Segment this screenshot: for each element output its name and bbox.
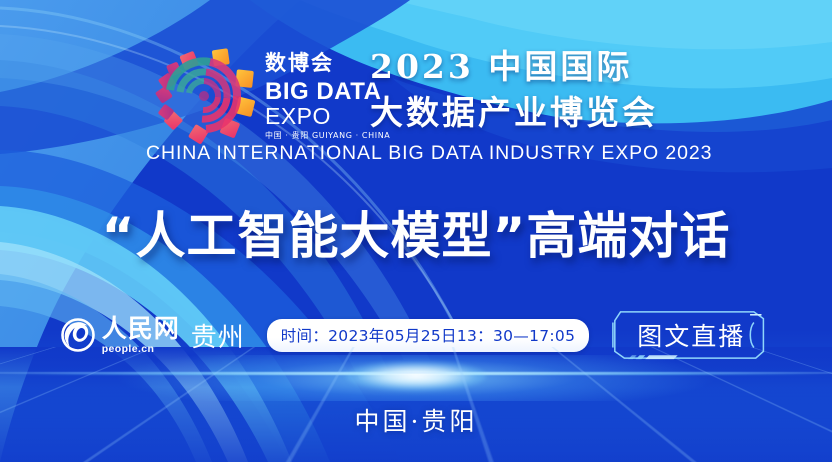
- bigdata-expo-spiral-logo: [152, 42, 256, 146]
- city-label: 中国·贵阳: [0, 402, 832, 438]
- live-badge-label: 图文直播: [637, 322, 745, 351]
- expo-logo: 数博会 BIG DATA EXPO 中国 · 贵阳 GUIYANG · CHIN…: [152, 42, 390, 146]
- people-cn-logo[interactable]: 人民网 people.cn 贵州: [61, 316, 245, 355]
- people-cn-domain: people.cn: [102, 344, 180, 355]
- time-badge: 时间：2023年05月25日13：30—17:05: [267, 319, 590, 352]
- people-cn-province: 贵州: [191, 317, 245, 354]
- page-title: “人工智能大模型”高端对话: [0, 196, 832, 268]
- headline-line-1: 2023 中国国际: [370, 44, 658, 90]
- people-cn-logo-icon: [61, 318, 95, 352]
- poster-banner: 数博会 BIG DATA EXPO 中国 · 贵阳 GUIYANG · CHIN…: [0, 0, 832, 462]
- headline-line-2: 大数据产业博览会: [370, 90, 658, 136]
- footer-row: 人民网 people.cn 贵州 时间：2023年05月25日13：30—17:…: [0, 305, 832, 365]
- live-badge[interactable]: 图文直播: [611, 309, 771, 361]
- headline-english: CHINA INTERNATIONAL BIG DATA INDUSTRY EX…: [146, 142, 712, 165]
- headline: 2023 中国国际 大数据产业博览会: [370, 44, 658, 136]
- people-cn-label: 人民网: [102, 316, 180, 341]
